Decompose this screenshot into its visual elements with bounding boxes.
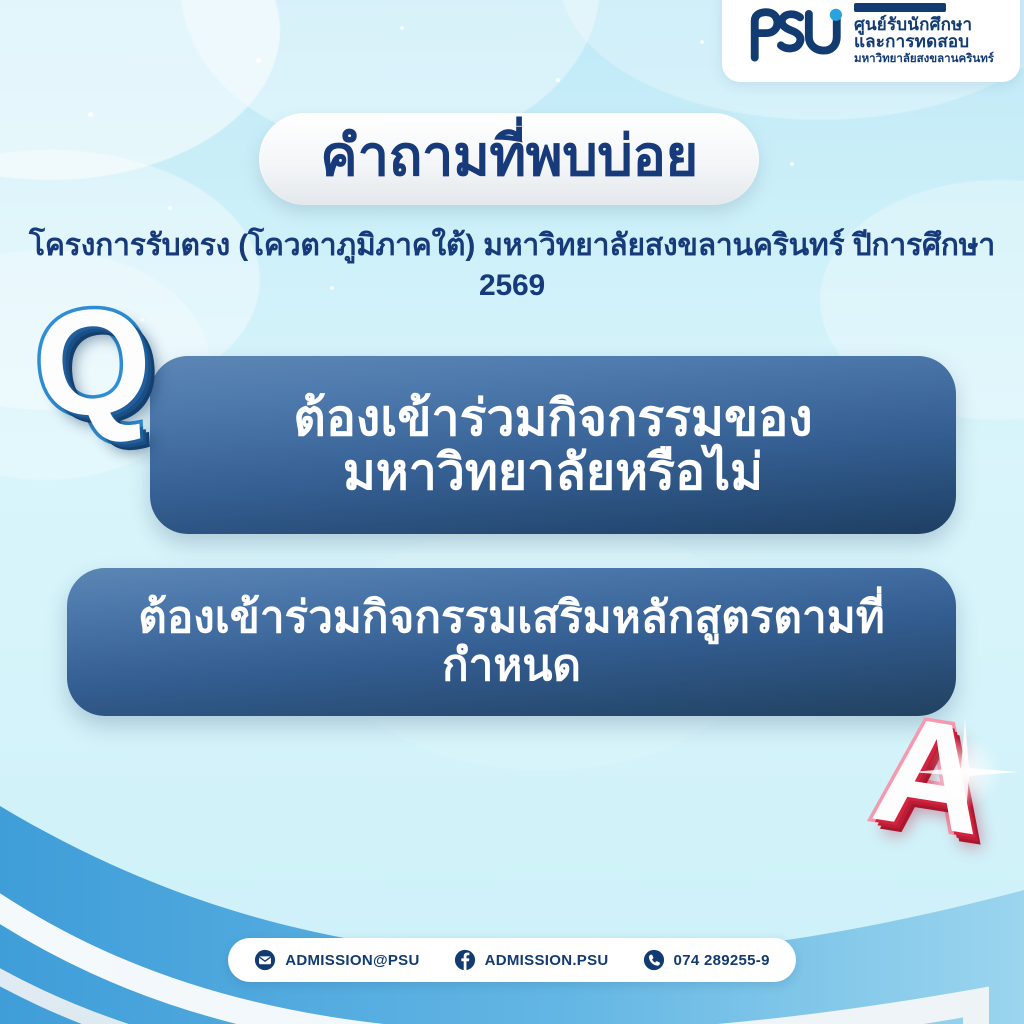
answer-letter-badge: A bbox=[845, 689, 1017, 861]
psu-monogram-icon bbox=[746, 6, 842, 62]
sparkle-dot bbox=[400, 26, 404, 30]
poster-canvas: ศูนย์รับนักศึกษา และการทดสอบ มหาวิทยาลัย… bbox=[0, 0, 1024, 1024]
sparkle-dot bbox=[790, 162, 794, 166]
question-letter-badge: Q bbox=[13, 283, 173, 441]
contact-phone[interactable]: 074 289255-9 bbox=[643, 949, 770, 971]
sparkle-dot bbox=[168, 206, 172, 210]
contact-phone-label: 074 289255-9 bbox=[674, 952, 770, 969]
sparkle-dot bbox=[88, 112, 93, 117]
page-title: คำถามที่พบบ่อย bbox=[320, 128, 698, 190]
question-line-2: มหาวิทยาลัยหรือไม่ bbox=[293, 445, 812, 499]
contact-email[interactable]: ADMISSION@PSU bbox=[254, 949, 419, 971]
sparkle-dot bbox=[256, 58, 261, 63]
contact-bar: ADMISSION@PSU ADMISSION.PSU 074 289255-9 bbox=[228, 938, 796, 982]
email-icon bbox=[254, 949, 276, 971]
answer-card: ต้องเข้าร่วมกิจกรรมเสริมหลักสูตรตามที่กำ… bbox=[67, 568, 956, 716]
sparkle-dot bbox=[556, 78, 560, 82]
contact-facebook[interactable]: ADMISSION.PSU bbox=[454, 949, 609, 971]
question-card: ต้องเข้าร่วมกิจกรรมของ มหาวิทยาลัยหรือไม… bbox=[150, 356, 956, 534]
phone-icon bbox=[643, 949, 665, 971]
logo-line-3: มหาวิทยาลัยสงขลานครินทร์ bbox=[854, 53, 994, 65]
logo-line-1: ศูนย์รับนักศึกษา bbox=[854, 16, 994, 34]
page-title-badge: คำถามที่พบบ่อย bbox=[259, 113, 759, 205]
logo-rule bbox=[854, 3, 946, 12]
question-text: ต้องเข้าร่วมกิจกรรมของ มหาวิทยาลัยหรือไม… bbox=[267, 391, 838, 499]
contact-email-label: ADMISSION@PSU bbox=[285, 952, 419, 969]
answer-text: ต้องเข้าร่วมกิจกรรมเสริมหลักสูตรตามที่กำ… bbox=[67, 594, 956, 689]
logo-text-block: ศูนย์รับนักศึกษา และการทดสอบ มหาวิทยาลัย… bbox=[854, 3, 994, 66]
contact-facebook-label: ADMISSION.PSU bbox=[485, 952, 609, 969]
logo-line-2: และการทดสอบ bbox=[854, 33, 994, 51]
sparkle-dot bbox=[700, 40, 704, 44]
facebook-icon bbox=[454, 949, 476, 971]
question-line-1: ต้องเข้าร่วมกิจกรรมของ bbox=[293, 391, 812, 445]
psu-logo-card: ศูนย์รับนักศึกษา และการทดสอบ มหาวิทยาลัย… bbox=[722, 0, 1020, 82]
